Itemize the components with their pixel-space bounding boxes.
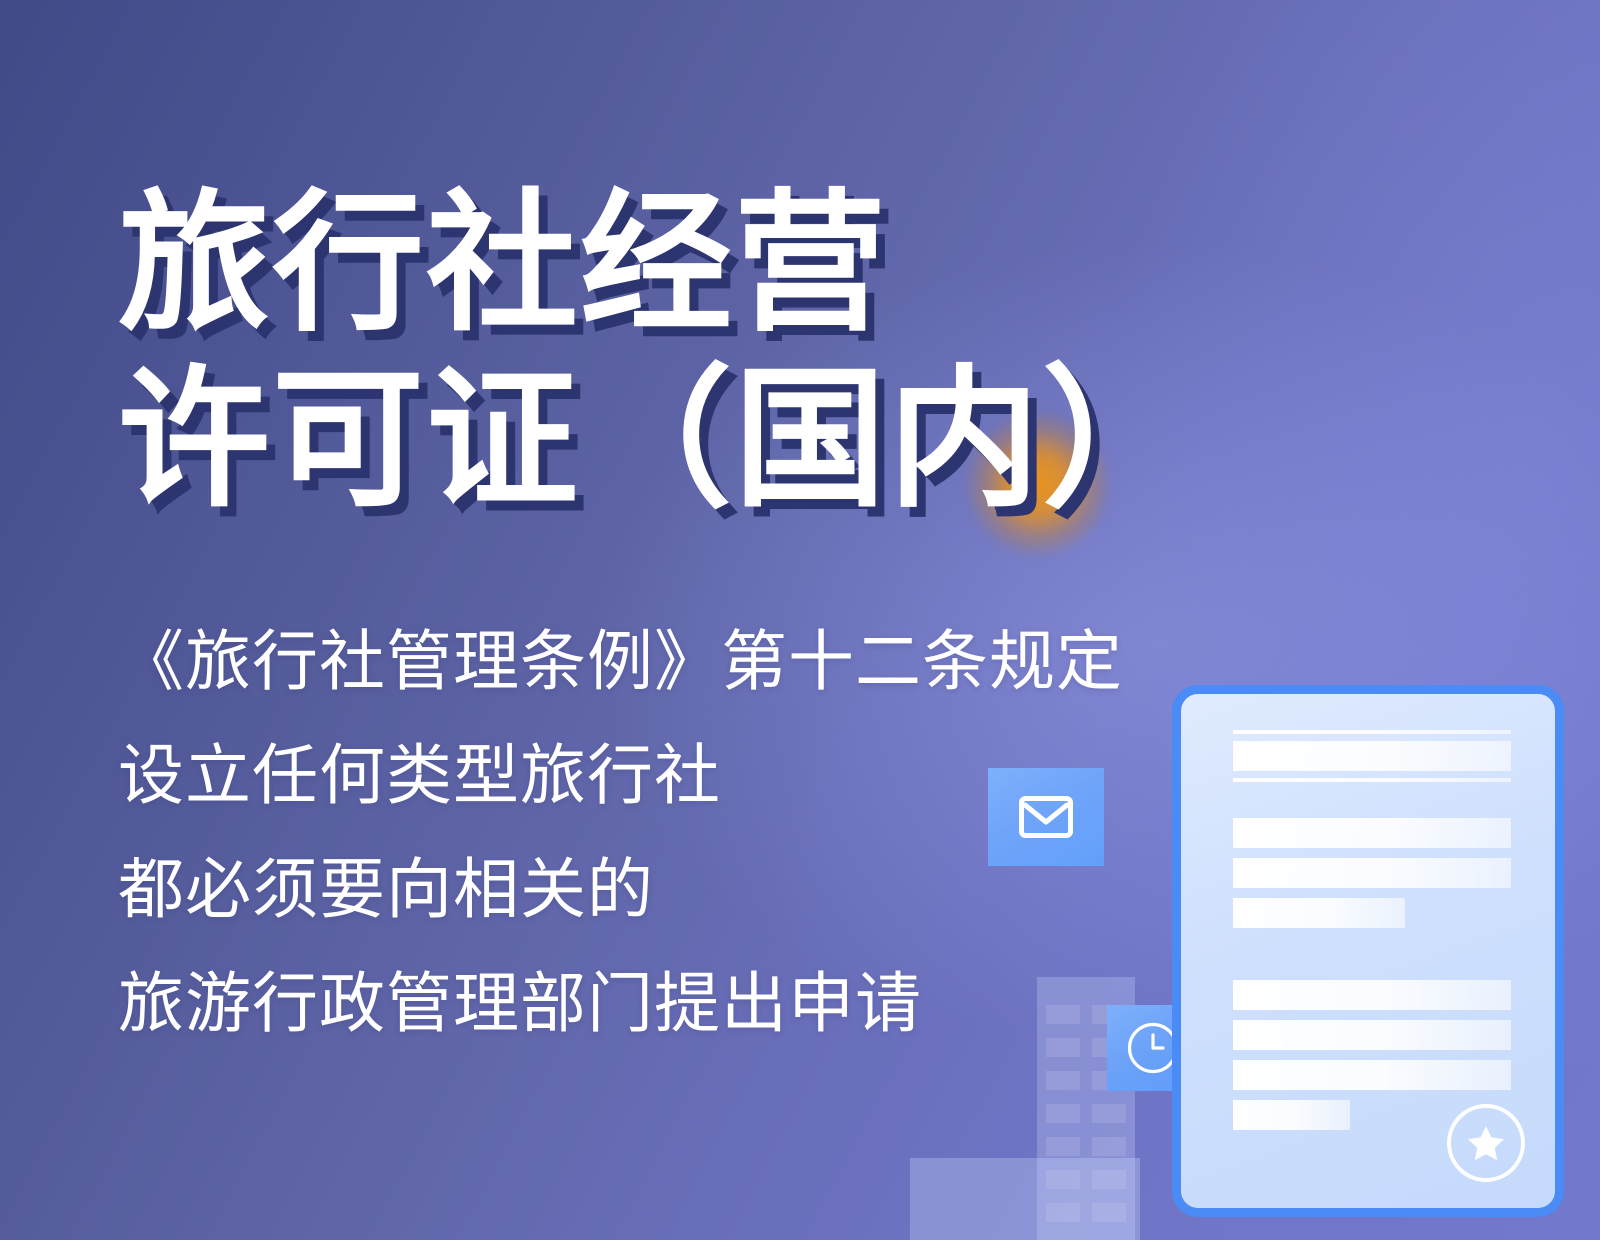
document-line	[1233, 818, 1511, 848]
title-line-2: 许可证（国内）	[118, 352, 1218, 528]
document-icon	[1172, 685, 1564, 1217]
star-badge-icon	[1447, 1104, 1525, 1182]
body-line-1: 《旅行社管理条例》第十二条规定	[118, 604, 1198, 718]
document-line	[1233, 741, 1511, 771]
building-base	[910, 1158, 1140, 1240]
page-title: 旅行社经营 许可证（国内）	[118, 176, 1218, 528]
building-window	[1092, 1104, 1126, 1123]
building-window	[1046, 1038, 1080, 1057]
envelope-tile	[988, 768, 1104, 866]
document-line	[1233, 858, 1511, 888]
document-line	[1233, 778, 1511, 782]
document-line	[1233, 1100, 1350, 1130]
building-window	[1046, 1005, 1080, 1024]
document-line	[1233, 980, 1511, 1010]
building-window	[1046, 1137, 1080, 1156]
building-window	[1092, 1137, 1126, 1156]
building-window	[1046, 1104, 1080, 1123]
building-window	[1046, 1071, 1080, 1090]
document-line	[1233, 1060, 1511, 1090]
document-line	[1233, 1020, 1511, 1050]
document-text-lines	[1233, 730, 1511, 1130]
poster-canvas: 旅行社经营 许可证（国内） 《旅行社管理条例》第十二条规定 设立任何类型旅行社 …	[0, 0, 1600, 1240]
document-line	[1233, 730, 1511, 734]
body-line-4: 旅游行政管理部门提出申请	[118, 946, 1198, 1060]
document-line	[1233, 898, 1405, 928]
title-line-1: 旅行社经营	[118, 176, 1218, 352]
